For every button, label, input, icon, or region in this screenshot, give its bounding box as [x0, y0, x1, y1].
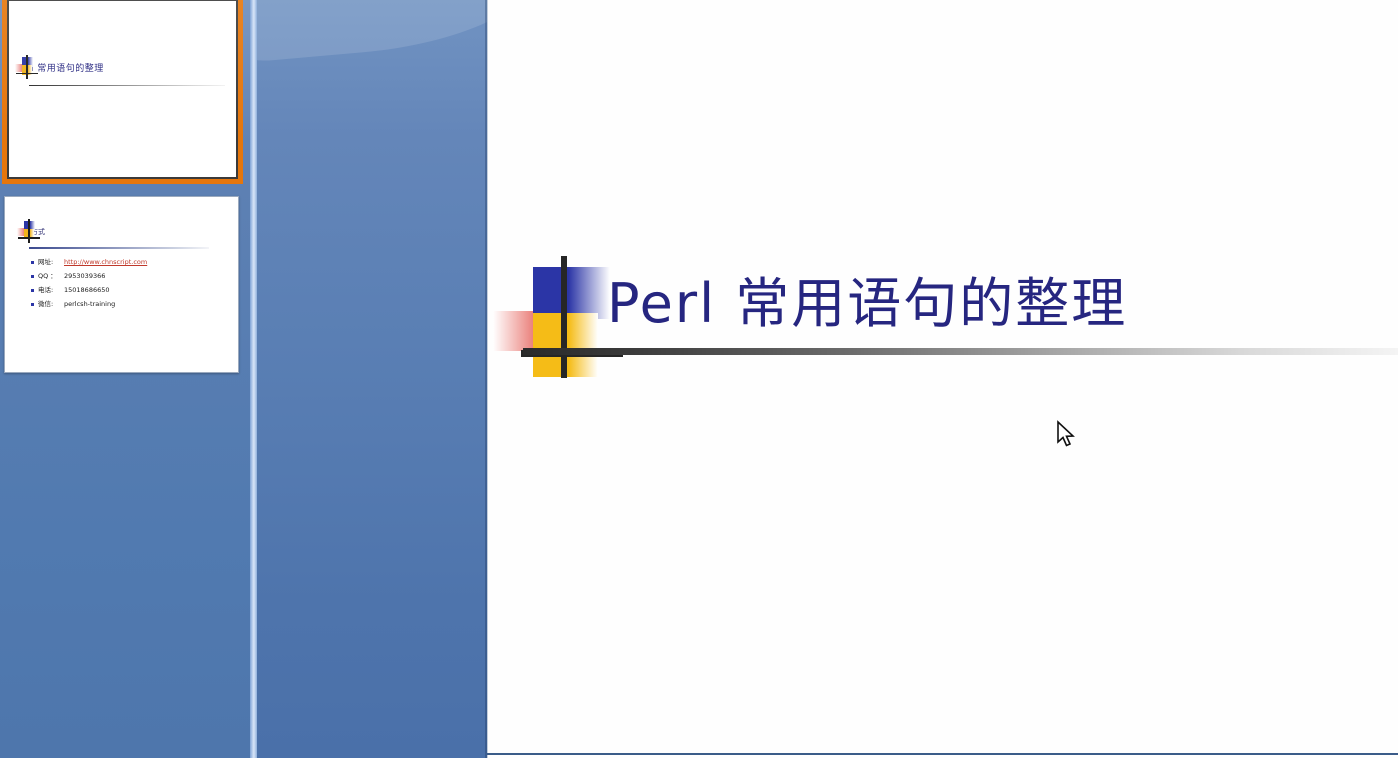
bullet-icon: [31, 261, 34, 264]
slide-bottom-rule: [487, 753, 1398, 755]
contact-value-website[interactable]: http://www.chnscript.com: [64, 255, 147, 269]
perl-square-logo-icon: [17, 219, 43, 245]
thumbnail-2-heading-row: 联系方式: [17, 227, 45, 237]
title-underline-rule: [523, 348, 1398, 355]
slide-title-block: Perl 常用语句的整理: [487, 252, 1398, 382]
slide-thumbnail-1[interactable]: Perl 常用语句的整理: [2, 0, 243, 184]
list-item: QQ ： 2953039366: [31, 269, 147, 283]
perl-square-logo-icon: [493, 256, 623, 378]
sheen-highlight: [257, 0, 487, 63]
slide-thumbnail-pane[interactable]: Perl 常用语句的整理 联系方式 网址:: [0, 0, 250, 758]
thumbnail-1-title-row: Perl 常用语句的整理: [15, 61, 104, 74]
list-item: 微信: perlcsh-training: [31, 297, 147, 311]
thumbnail-2-contact-list: 网址: http://www.chnscript.com QQ ： 295303…: [31, 255, 147, 311]
list-item: 电话: 15018686650: [31, 283, 147, 297]
slide-thumbnail-2[interactable]: 联系方式 网址: http://www.chnscript.com QQ ： 2…: [4, 196, 239, 373]
slide-background-filler: [257, 0, 487, 758]
presentation-window: Perl 常用语句的整理 联系方式 网址:: [0, 0, 1398, 758]
thumbnail-1-underline: [29, 85, 225, 86]
contact-value-phone: 15018686650: [64, 283, 110, 297]
contact-label: 微信:: [38, 297, 60, 311]
contact-label: 网址:: [38, 255, 60, 269]
contact-label: QQ ：: [38, 269, 60, 283]
contact-value-wechat: perlcsh-training: [64, 297, 115, 311]
page-title: Perl 常用语句的整理: [607, 266, 1127, 342]
contact-label: 电话:: [38, 283, 60, 297]
bullet-icon: [31, 275, 34, 278]
bullet-icon: [31, 289, 34, 292]
pane-splitter[interactable]: [250, 0, 257, 758]
thumbnail-2-underline: [29, 247, 209, 249]
slide-canvas[interactable]: Perl 常用语句的整理: [487, 0, 1398, 758]
list-item: 网址: http://www.chnscript.com: [31, 255, 147, 269]
bullet-icon: [31, 303, 34, 306]
perl-square-logo-icon: [15, 55, 41, 81]
contact-value-qq: 2953039366: [64, 269, 105, 283]
